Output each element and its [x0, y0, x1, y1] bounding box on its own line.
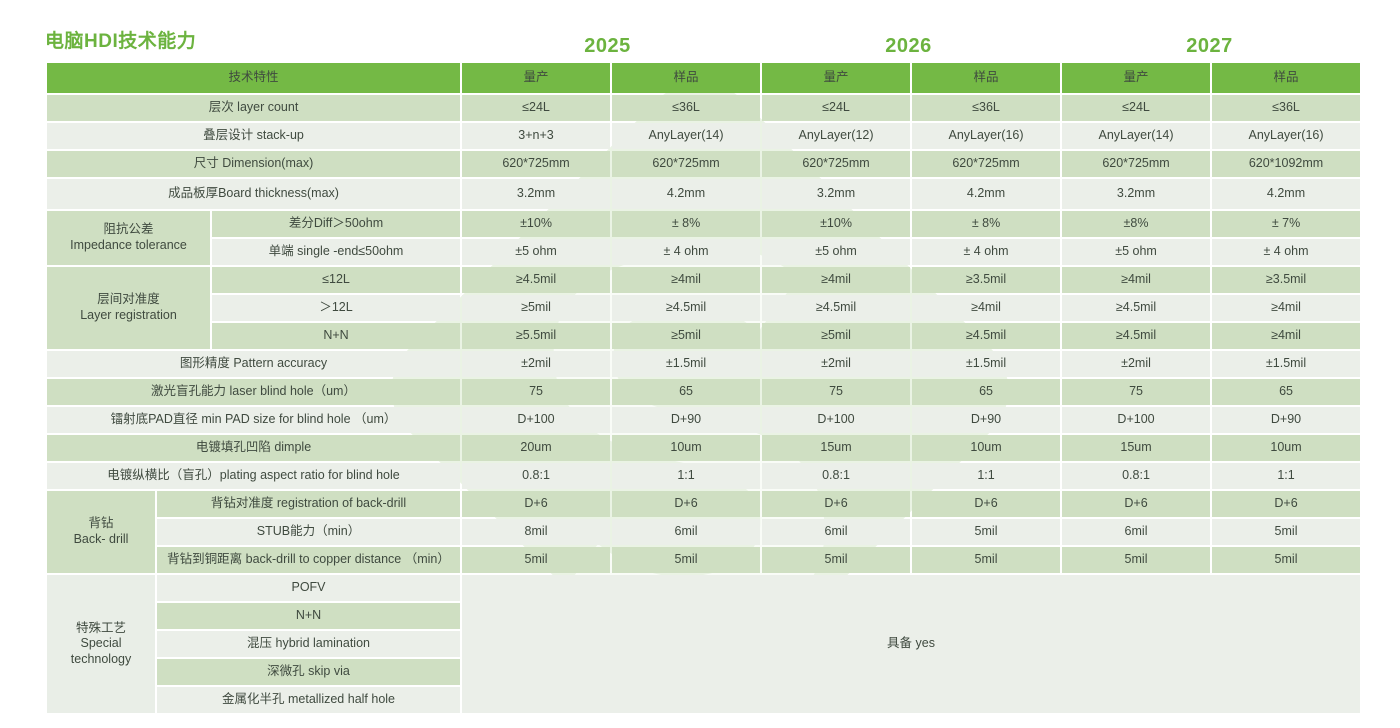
group-label-en: Back- drill [74, 532, 129, 546]
table-row: 尺寸 Dimension(max) 620*725mm 620*725mm 62… [47, 151, 1360, 177]
row-feature: POFV [157, 575, 460, 601]
row-value: D+6 [1062, 491, 1210, 517]
row-value: 10um [612, 435, 760, 461]
row-feature: 叠层设计 stack-up [47, 123, 460, 149]
table-row: 激光盲孔能力 laser blind hole（um） 75 65 75 65 … [47, 379, 1360, 405]
row-feature: 金属化半孔 metallized half hole [157, 687, 460, 713]
year-label-2025: 2025 [457, 33, 758, 61]
row-value: ± 7% [1212, 211, 1360, 237]
row-value: ≥4.5mil [1062, 295, 1210, 321]
table-row: 单端 single -end≤50ohm ±5 ohm ± 4 ohm ±5 o… [47, 239, 1360, 265]
header-col-2025-sample: 样品 [612, 63, 760, 93]
row-feature: 成品板厚Board thickness(max) [47, 179, 460, 209]
row-value: 1:1 [612, 463, 760, 489]
row-value: ± 4 ohm [612, 239, 760, 265]
table-row: N+N ≥5.5mil ≥5mil ≥5mil ≥4.5mil ≥4.5mil … [47, 323, 1360, 349]
row-value: 20um [462, 435, 610, 461]
row-value: ± 8% [912, 211, 1060, 237]
row-value: D+6 [612, 491, 760, 517]
row-value: ≥4.5mil [612, 295, 760, 321]
row-value: 5mil [912, 519, 1060, 545]
row-value: ±1.5mil [912, 351, 1060, 377]
year-label-2026: 2026 [758, 33, 1059, 61]
row-value: ≥5mil [762, 323, 910, 349]
row-value: ±2mil [462, 351, 610, 377]
row-value: 620*725mm [612, 151, 760, 177]
row-value: ±2mil [1062, 351, 1210, 377]
table-row: 成品板厚Board thickness(max) 3.2mm 4.2mm 3.2… [47, 179, 1360, 209]
row-value: 620*725mm [1062, 151, 1210, 177]
row-value: 3.2mm [1062, 179, 1210, 209]
row-feature: 镭射底PAD直径 min PAD size for blind hole （um… [47, 407, 460, 433]
group-label-impedance: 阻抗公差 Impedance tolerance [47, 211, 210, 265]
row-value: 0.8:1 [1062, 463, 1210, 489]
table-row: 电镀纵横比（盲孔）plating aspect ratio for blind … [47, 463, 1360, 489]
group-label-layer-registration: 层间对准度 Layer registration [47, 267, 210, 349]
row-value: 8mil [462, 519, 610, 545]
row-value: ≤36L [912, 95, 1060, 121]
row-feature: ＞12L [212, 295, 460, 321]
row-value: 5mil [912, 547, 1060, 573]
year-band: 2025 2026 2027 [457, 33, 1360, 61]
row-value: AnyLayer(16) [1212, 123, 1360, 149]
row-value: 15um [762, 435, 910, 461]
row-value: AnyLayer(14) [1062, 123, 1210, 149]
year-label-2027: 2027 [1059, 33, 1360, 61]
row-value: 5mil [612, 547, 760, 573]
row-feature: 深微孔 skip via [157, 659, 460, 685]
row-value: 5mil [762, 547, 910, 573]
row-feature: 背钻到铜距离 back-drill to copper distance （mi… [157, 547, 460, 573]
row-value: 5mil [462, 547, 610, 573]
group-label-cn: 特殊工艺 [76, 621, 126, 635]
row-value: ≥4mil [1062, 267, 1210, 293]
row-value: 10um [1212, 435, 1360, 461]
group-label-cn: 背钻 [88, 516, 113, 530]
row-value: 1:1 [1212, 463, 1360, 489]
page-title: 电脑HDI技术能力 [45, 26, 196, 53]
row-feature: 激光盲孔能力 laser blind hole（um） [47, 379, 460, 405]
row-value: ± 4 ohm [912, 239, 1060, 265]
row-value: ±5 ohm [762, 239, 910, 265]
row-value: 15um [1062, 435, 1210, 461]
row-value: ≤36L [612, 95, 760, 121]
row-feature: 图形精度 Pattern accuracy [47, 351, 460, 377]
row-value: 4.2mm [912, 179, 1060, 209]
row-value: ≥4mil [612, 267, 760, 293]
row-value: D+6 [462, 491, 610, 517]
row-feature: 层次 layer count [47, 95, 460, 121]
row-value: ±1.5mil [612, 351, 760, 377]
row-value: AnyLayer(14) [612, 123, 760, 149]
table-row: 阻抗公差 Impedance tolerance 差分Diff＞50ohm ±1… [47, 211, 1360, 237]
row-value: ≤24L [462, 95, 610, 121]
row-value: ≥4.5mil [1062, 323, 1210, 349]
row-value: 4.2mm [1212, 179, 1360, 209]
row-value: ≥4.5mil [762, 295, 910, 321]
row-feature: 背钻对准度 registration of back-drill [157, 491, 460, 517]
row-value: ≥4mil [762, 267, 910, 293]
row-value: D+90 [1212, 407, 1360, 433]
row-feature: 电镀纵横比（盲孔）plating aspect ratio for blind … [47, 463, 460, 489]
row-value: D+6 [912, 491, 1060, 517]
row-value: ≤36L [1212, 95, 1360, 121]
row-value: 65 [912, 379, 1060, 405]
row-value: 3+n+3 [462, 123, 610, 149]
row-value: ±8% [1062, 211, 1210, 237]
row-value: ≥3.5mil [912, 267, 1060, 293]
table-row: 电镀填孔凹陷 dimple 20um 10um 15um 10um 15um 1… [47, 435, 1360, 461]
row-feature: 尺寸 Dimension(max) [47, 151, 460, 177]
table-row: 特殊工艺 Special technology POFV 具备 yes [47, 575, 1360, 601]
row-feature: 电镀填孔凹陷 dimple [47, 435, 460, 461]
row-value: ±1.5mil [1212, 351, 1360, 377]
row-value: 620*725mm [762, 151, 910, 177]
table-header-row: 技术特性 量产 样品 量产 样品 量产 样品 [47, 63, 1360, 93]
row-value: 10um [912, 435, 1060, 461]
group-label-en: Layer registration [80, 308, 177, 322]
row-value: ±5 ohm [462, 239, 610, 265]
group-label-en1: Special [81, 636, 122, 650]
row-feature: ≤12L [212, 267, 460, 293]
row-value: 65 [612, 379, 760, 405]
row-value: ≥4mil [1212, 323, 1360, 349]
row-value: ≥4mil [1212, 295, 1360, 321]
row-value: 1:1 [912, 463, 1060, 489]
table-row: 镭射底PAD直径 min PAD size for blind hole （um… [47, 407, 1360, 433]
row-feature: 单端 single -end≤50ohm [212, 239, 460, 265]
row-value: 5mil [1212, 519, 1360, 545]
row-value: 0.8:1 [762, 463, 910, 489]
row-value: 6mil [1062, 519, 1210, 545]
row-value: D+6 [762, 491, 910, 517]
header-col-2027-mass: 量产 [1062, 63, 1210, 93]
row-value: 3.2mm [462, 179, 610, 209]
row-feature: STUB能力（min） [157, 519, 460, 545]
row-feature: N+N [212, 323, 460, 349]
row-value: 6mil [612, 519, 760, 545]
special-technology-merged-value: 具备 yes [462, 575, 1360, 713]
row-value: 75 [1062, 379, 1210, 405]
group-label-en: Impedance tolerance [70, 238, 187, 252]
row-value: ± 8% [612, 211, 760, 237]
table-row: ＞12L ≥5mil ≥4.5mil ≥4.5mil ≥4mil ≥4.5mil… [47, 295, 1360, 321]
header-feature: 技术特性 [47, 63, 460, 93]
group-label-back-drill: 背钻 Back- drill [47, 491, 155, 573]
header-col-2026-sample: 样品 [912, 63, 1060, 93]
row-feature: 差分Diff＞50ohm [212, 211, 460, 237]
row-value: D+6 [1212, 491, 1360, 517]
row-value: ±10% [462, 211, 610, 237]
row-value: ≥5.5mil [462, 323, 610, 349]
row-value: D+90 [612, 407, 760, 433]
row-value: ≥4.5mil [912, 323, 1060, 349]
group-label-en2: technology [71, 652, 131, 666]
table-row: 层次 layer count ≤24L ≤36L ≤24L ≤36L ≤24L … [47, 95, 1360, 121]
group-label-cn: 阻抗公差 [103, 222, 153, 236]
row-value: D+100 [762, 407, 910, 433]
table-row: 层间对准度 Layer registration ≤12L ≥4.5mil ≥4… [47, 267, 1360, 293]
row-value: ± 4 ohm [1212, 239, 1360, 265]
row-value: D+90 [912, 407, 1060, 433]
row-value: 0.8:1 [462, 463, 610, 489]
hdi-capability-table: 技术特性 量产 样品 量产 样品 量产 样品 层次 layer count ≤2… [45, 61, 1362, 715]
row-value: ±5 ohm [1062, 239, 1210, 265]
table-row: STUB能力（min） 8mil 6mil 6mil 5mil 6mil 5mi… [47, 519, 1360, 545]
row-value: ≥5mil [462, 295, 610, 321]
row-value: ≥4mil [912, 295, 1060, 321]
table-row: 图形精度 Pattern accuracy ±2mil ±1.5mil ±2mi… [47, 351, 1360, 377]
row-value: D+100 [1062, 407, 1210, 433]
group-label-cn: 层间对准度 [97, 292, 160, 306]
row-value: 65 [1212, 379, 1360, 405]
row-value: 620*725mm [462, 151, 610, 177]
row-feature: 混压 hybrid lamination [157, 631, 460, 657]
row-feature: N+N [157, 603, 460, 629]
table-row: 叠层设计 stack-up 3+n+3 AnyLayer(14) AnyLaye… [47, 123, 1360, 149]
table-row: 背钻 Back- drill 背钻对准度 registration of bac… [47, 491, 1360, 517]
row-value: 4.2mm [612, 179, 760, 209]
header-col-2027-sample: 样品 [1212, 63, 1360, 93]
page-root: 电脑HDI技术能力 2025 2026 2027 技术特性 量产 样品 量产 样… [0, 0, 1400, 728]
row-value: 75 [462, 379, 610, 405]
row-value: ≤24L [1062, 95, 1210, 121]
row-value: ≤24L [762, 95, 910, 121]
row-value: AnyLayer(16) [912, 123, 1060, 149]
row-value: ≥5mil [612, 323, 760, 349]
row-value: 5mil [1212, 547, 1360, 573]
header-col-2026-mass: 量产 [762, 63, 910, 93]
row-value: D+100 [462, 407, 610, 433]
group-label-special-technology: 特殊工艺 Special technology [47, 575, 155, 713]
row-value: ≥4.5mil [462, 267, 610, 293]
row-value: ±2mil [762, 351, 910, 377]
row-value: AnyLayer(12) [762, 123, 910, 149]
row-value: 6mil [762, 519, 910, 545]
row-value: 5mil [1062, 547, 1210, 573]
row-value: 620*725mm [912, 151, 1060, 177]
header-col-2025-mass: 量产 [462, 63, 610, 93]
row-value: 3.2mm [762, 179, 910, 209]
row-value: 620*1092mm [1212, 151, 1360, 177]
row-value: ±10% [762, 211, 910, 237]
row-value: ≥3.5mil [1212, 267, 1360, 293]
table-row: 背钻到铜距离 back-drill to copper distance （mi… [47, 547, 1360, 573]
row-value: 75 [762, 379, 910, 405]
